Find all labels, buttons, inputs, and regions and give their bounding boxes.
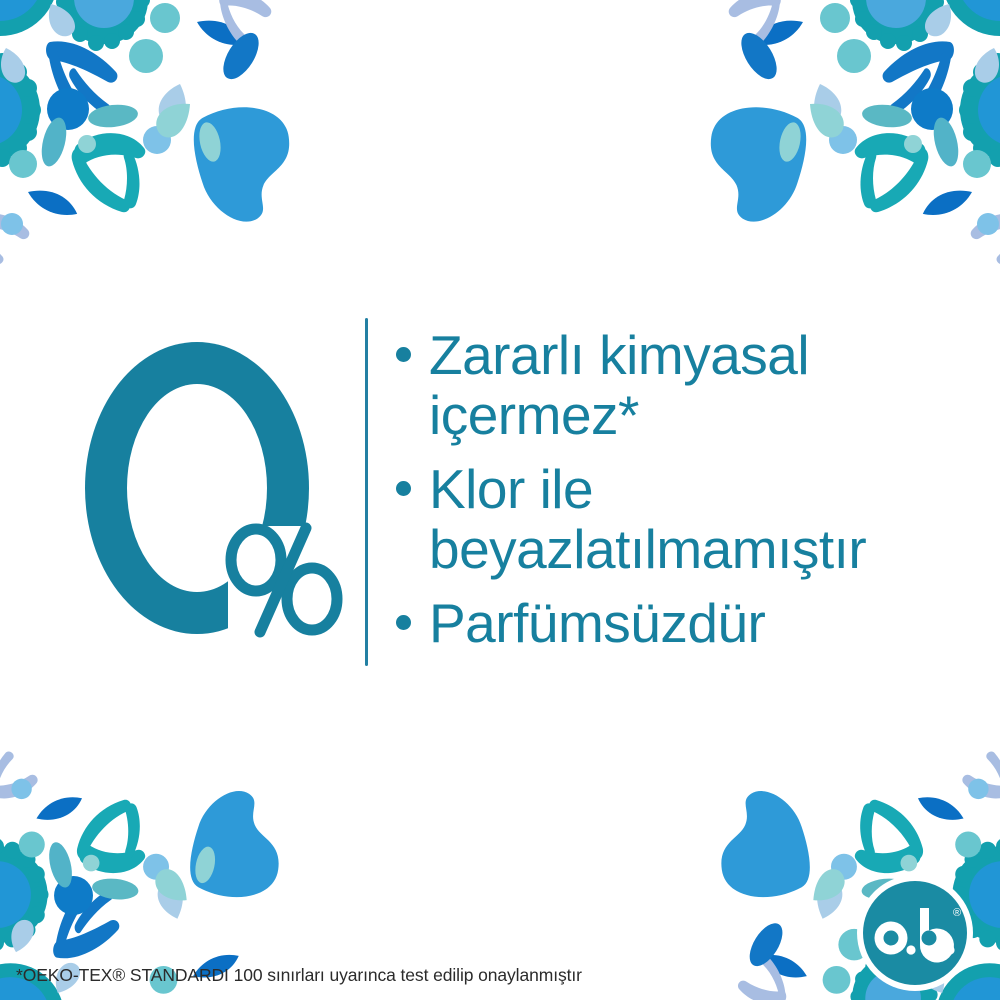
ob-brand-logo: ® o.b. xyxy=(856,874,974,992)
vertical-divider xyxy=(365,318,368,666)
list-item: Parfümsüzdür xyxy=(396,594,992,654)
list-item: Zararlı kimyasal içermez* xyxy=(396,326,992,446)
promo-graphic: 0 % Zararlı kimyasal içermez* Klor ile b… xyxy=(0,0,1000,1000)
bullet-icon xyxy=(396,615,411,630)
decorative-corner-top-left xyxy=(0,0,294,267)
claim-text: Klor ile beyazlatılmamıştır xyxy=(429,460,992,580)
claim-text: Zararlı kimyasal içermez* xyxy=(429,326,992,446)
footnote-text: *OEKO-TEX® STANDARDI 100 sınırları uyarı… xyxy=(16,965,582,986)
bullet-icon xyxy=(396,347,411,362)
decorative-corner-top-right xyxy=(706,0,1000,267)
decorative-corner-bottom-left xyxy=(0,749,294,1000)
list-item: Klor ile beyazlatılmamıştır xyxy=(396,460,992,580)
dot-circle xyxy=(47,88,89,130)
claim-text: Parfümsüzdür xyxy=(429,594,992,654)
bullet-icon xyxy=(396,481,411,496)
registered-trademark-icon: ® xyxy=(953,907,961,919)
zero-percent-mark: 0 % xyxy=(78,338,346,638)
claims-list: Zararlı kimyasal içermez* Klor ile beyaz… xyxy=(396,326,992,654)
